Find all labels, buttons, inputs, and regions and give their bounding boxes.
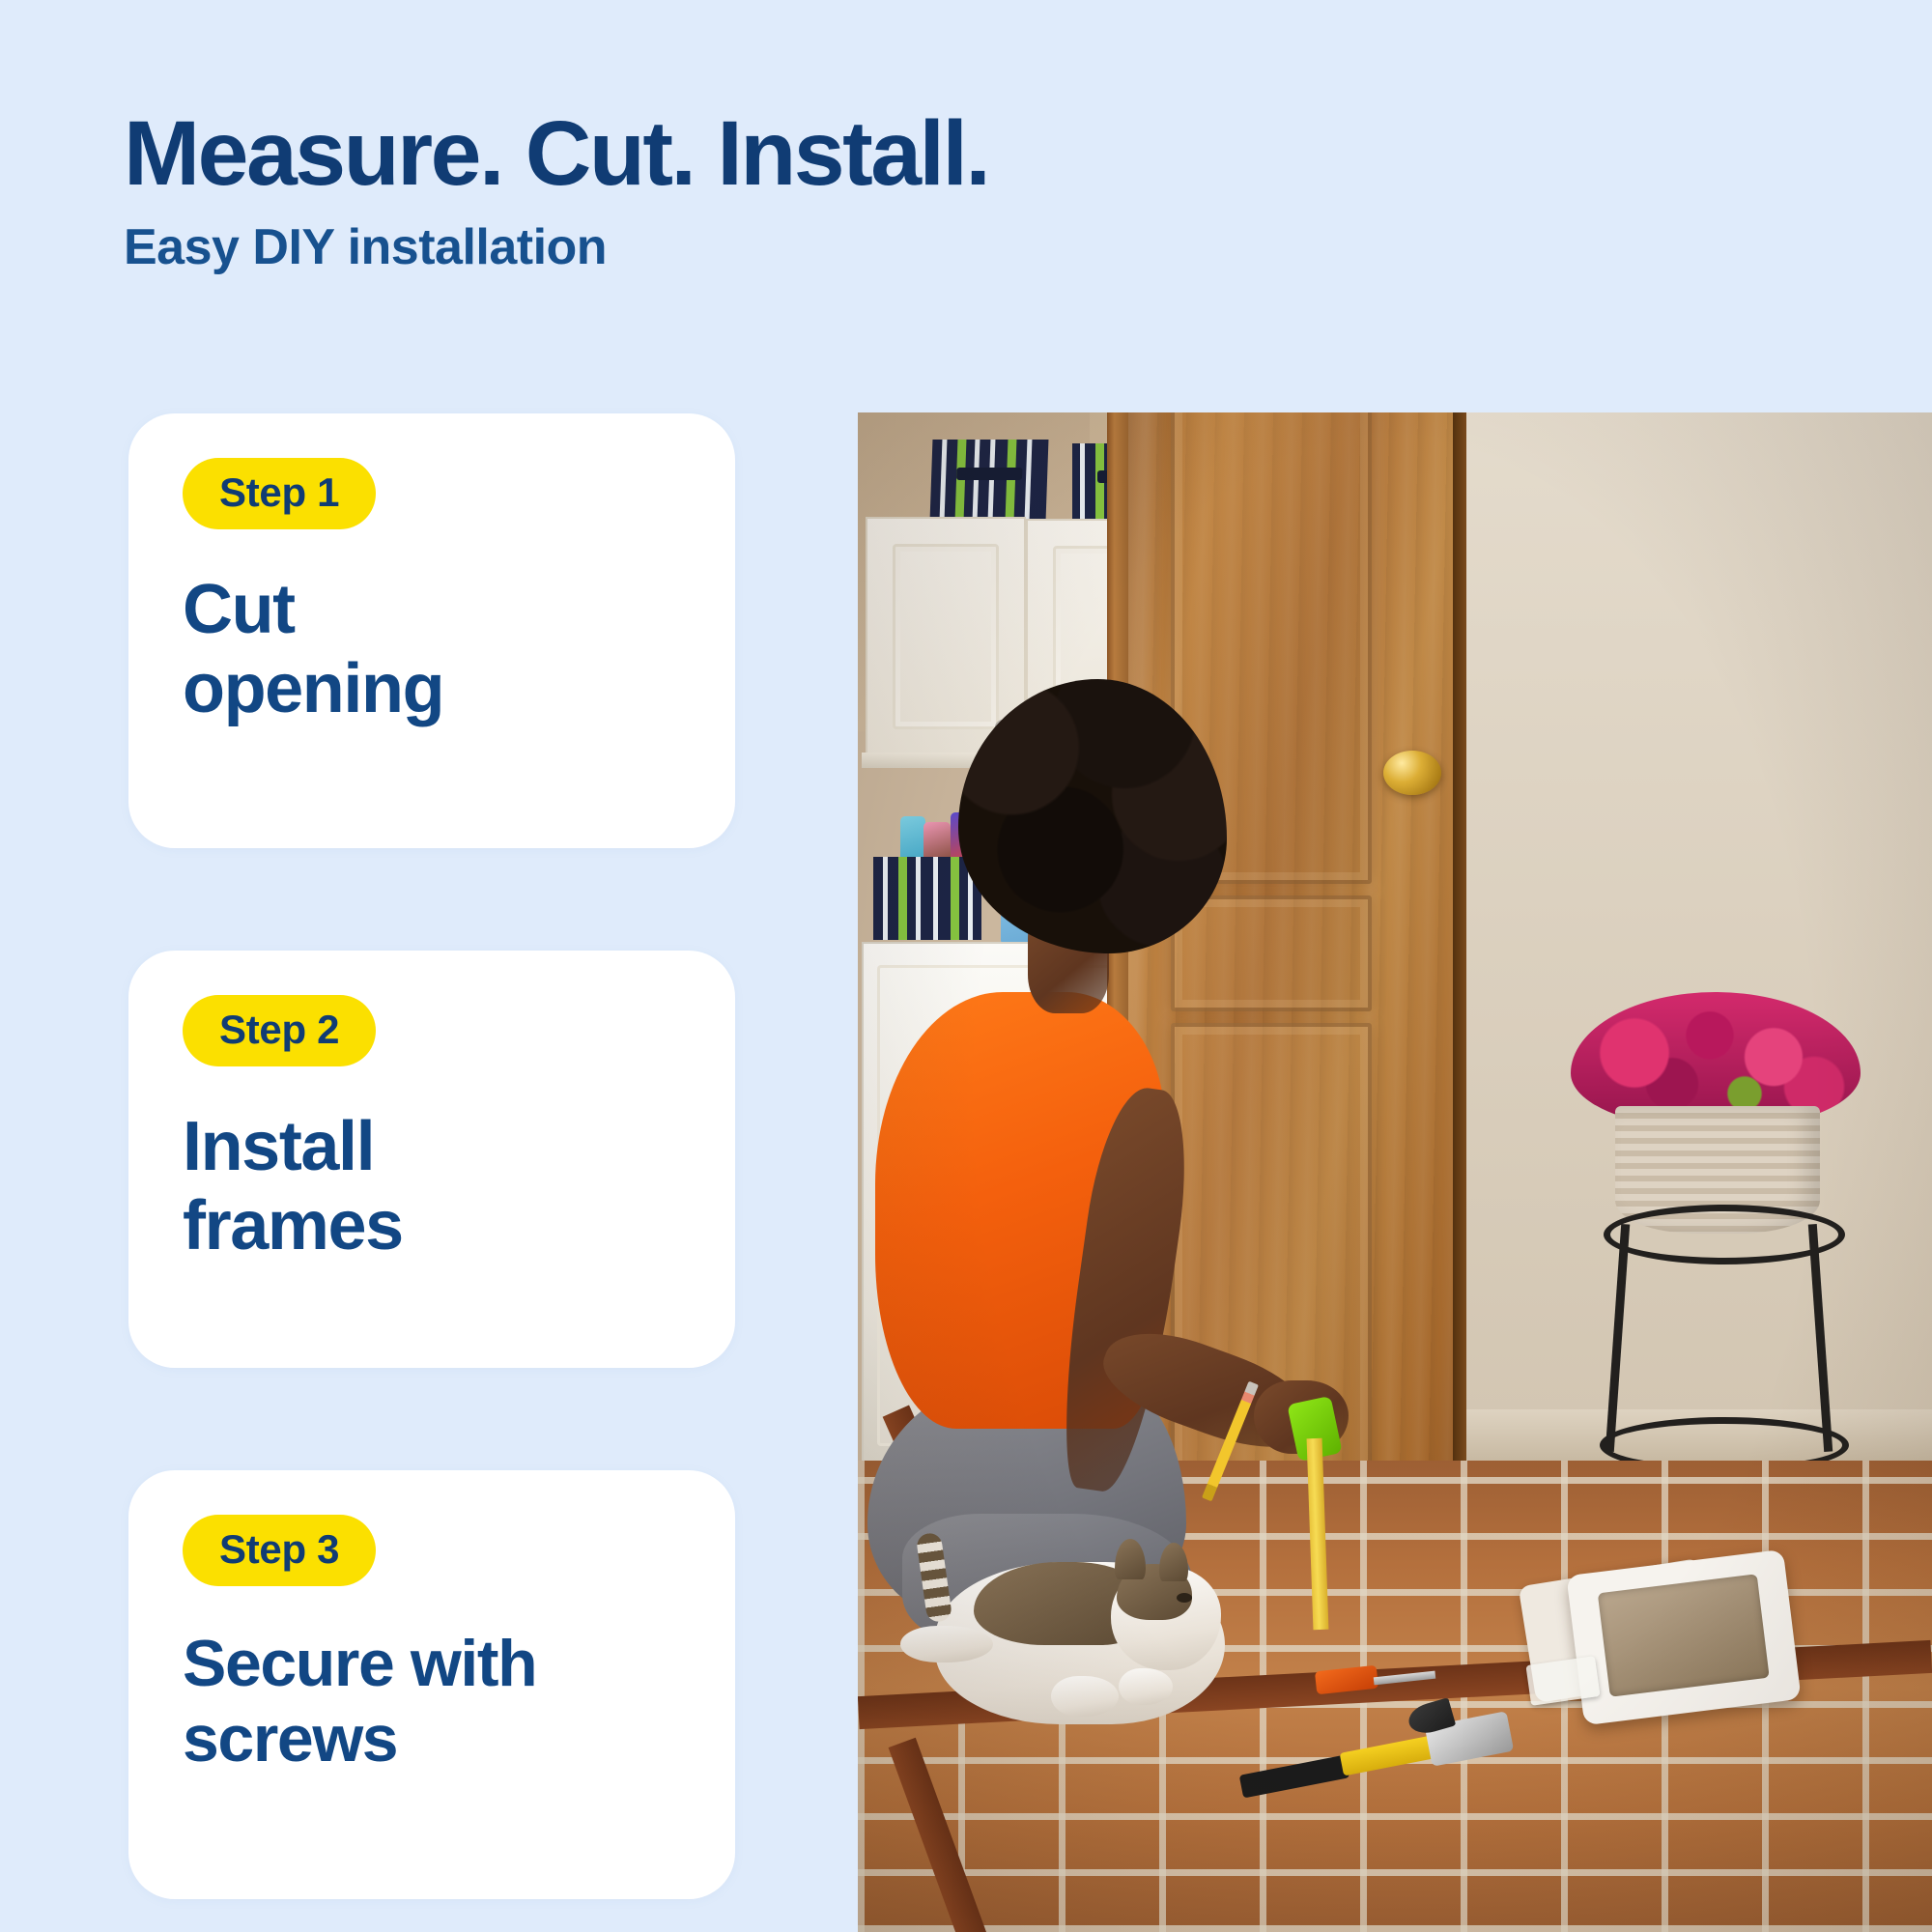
step-card-1[interactable]: Step 1 Cut opening bbox=[128, 413, 735, 848]
page-title: Measure. Cut. Install. bbox=[124, 106, 1283, 203]
step-title-1: Cut opening bbox=[183, 570, 681, 728]
step-badge-1: Step 1 bbox=[183, 458, 376, 529]
steps-list: Step 1 Cut opening Step 2 Install frames… bbox=[128, 413, 735, 1899]
step-card-2[interactable]: Step 2 Install frames bbox=[128, 951, 735, 1368]
installation-photo bbox=[858, 412, 1932, 1932]
cat-eye bbox=[1177, 1593, 1192, 1603]
cat-paw-front-left bbox=[900, 1626, 993, 1662]
cat-paw-extra bbox=[1119, 1668, 1173, 1705]
step-title-2: Install frames bbox=[183, 1107, 681, 1265]
cat-paw-front-right bbox=[1051, 1676, 1119, 1717]
pet-door-frame-front[interactable] bbox=[1566, 1549, 1801, 1725]
header-block: Measure. Cut. Install. Easy DIY installa… bbox=[124, 106, 1283, 275]
storage-basket-1 bbox=[930, 440, 1049, 521]
back-wall-right bbox=[1450, 412, 1932, 1475]
door-mid-rail bbox=[1171, 895, 1372, 1011]
pet-door-flap bbox=[1598, 1574, 1770, 1696]
door-knob[interactable] bbox=[1383, 751, 1441, 795]
small-striped-basket bbox=[873, 857, 981, 940]
step-badge-3: Step 3 bbox=[183, 1515, 376, 1586]
step-card-3[interactable]: Step 3 Secure with screws bbox=[128, 1470, 735, 1899]
door-edge-shadow bbox=[1453, 412, 1466, 1610]
step-title-3: Secure with screws bbox=[183, 1627, 681, 1776]
page-subtitle: Easy DIY installation bbox=[124, 220, 1283, 275]
step-badge-2: Step 2 bbox=[183, 995, 376, 1066]
